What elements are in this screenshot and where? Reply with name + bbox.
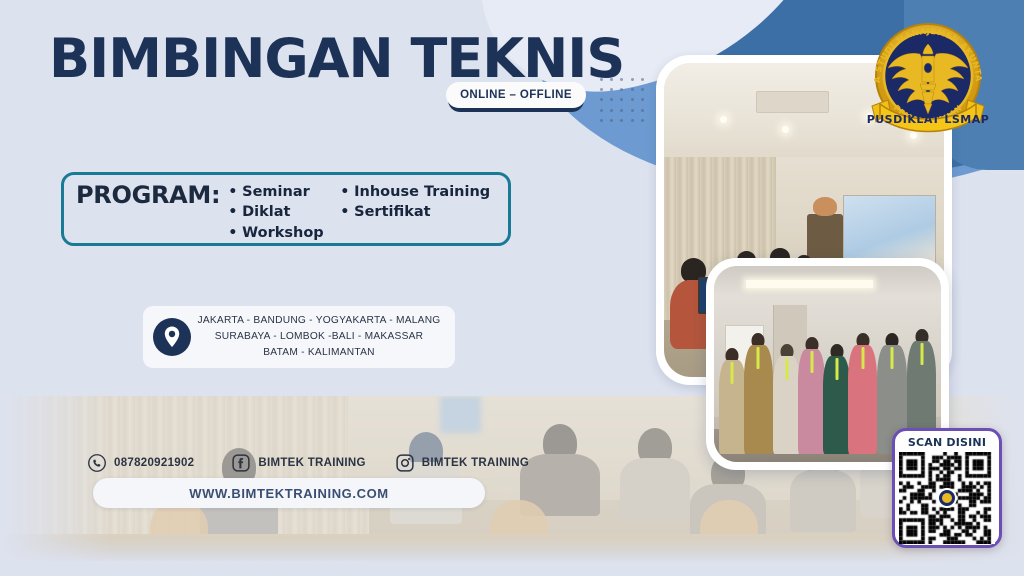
qr-card[interactable]: SCAN DISINI [892,428,1002,548]
footer-fade-bottom [0,538,1024,564]
photo-person [773,344,800,454]
contact-label: BIMTEK TRAINING [258,457,365,469]
photo-light-bar [746,280,873,288]
instagram-icon [396,454,414,472]
poster-canvas: BIMBINGAN TEKNIS ONLINE – OFFLINE PROGRA… [0,0,1024,576]
contact-row: 087820921902 BIMTEK TRAINING BIMTEK TRAI… [88,450,508,476]
mode-badge: ONLINE – OFFLINE [446,82,586,112]
page-title: BIMBINGAN TEKNIS [49,27,624,90]
program-item: Sertifikat [340,203,490,222]
photo-person [848,333,878,455]
location-line: JAKARTA - BANDUNG - YOGYAKARTA - MALANG [191,313,447,329]
facebook-icon [232,454,250,472]
mode-badge-label: ONLINE – OFFLINE [446,82,586,108]
qr-center-logo [937,488,957,508]
photo-projection-screen [843,195,935,264]
photo-person [823,344,850,454]
location-line: SURABAYA - LOMBOK -BALI - MAKASSAR [191,329,447,345]
photo-person [719,348,746,454]
website-pill[interactable]: WWW.BIMTEKTRAINING.COM [93,478,485,508]
decor-dot-grid [596,74,648,126]
website-url: WWW.BIMTEKTRAINING.COM [189,486,389,501]
program-column-2: Inhouse Training Sertifikat [340,183,490,223]
locations-panel: JAKARTA - BANDUNG - YOGYAKARTA - MALANG … [143,306,455,368]
qr-code-image[interactable] [899,452,995,544]
photo-person [798,337,825,455]
logo-ribbon-text: PUSDIKLAT LSMAP [867,113,990,126]
contact-label: 087820921902 [114,457,194,469]
program-label: PROGRAM: [76,183,220,208]
photo-person [744,333,774,455]
contact-facebook[interactable]: BIMTEK TRAINING [232,454,365,472]
contact-instagram[interactable]: BIMTEK TRAINING [396,454,529,472]
whatsapp-icon [88,454,106,472]
footer-bottom-strip [0,564,1024,576]
photo-ac-vent [756,91,829,113]
program-item: Seminar [228,183,340,202]
lsmap-logo-badge: LEMBAGA STUDI MANAJEMEN AKUNTANSI DAN PE… [858,6,998,146]
program-item: Workshop [228,224,340,243]
contact-label: BIMTEK TRAINING [422,457,529,469]
map-pin-icon [153,318,191,356]
location-line: BATAM - KALIMANTAN [191,345,447,361]
program-item: Inhouse Training [340,183,490,202]
contact-whatsapp[interactable]: 087820921902 [88,454,194,472]
qr-title: SCAN DISINI [908,436,986,449]
program-column-1: Seminar Diklat Workshop [228,183,340,243]
locations-text: JAKARTA - BANDUNG - YOGYAKARTA - MALANG … [191,313,455,360]
program-item: Diklat [228,203,340,222]
program-box: PROGRAM: Seminar Diklat Workshop Inhouse… [61,172,511,246]
